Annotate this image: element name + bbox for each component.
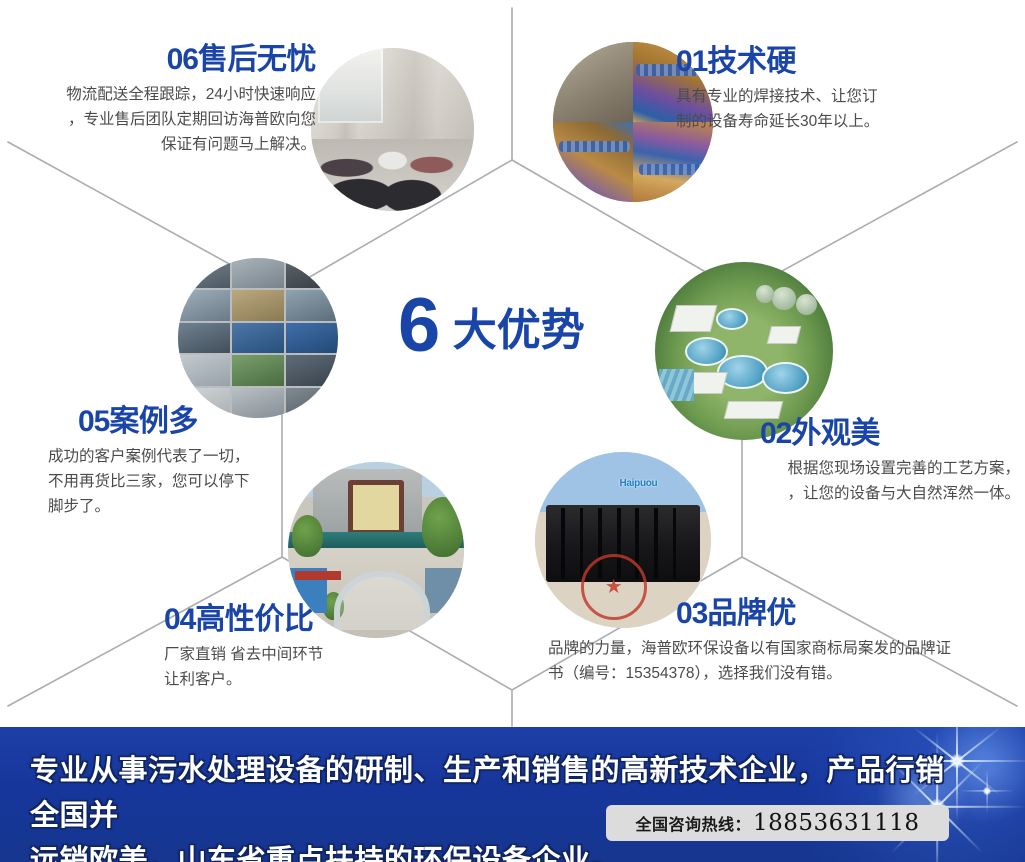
advantage-01-line2: 制的设备寿命延长30年以上。 <box>676 109 1006 134</box>
advantage-04-value: 04高性价比 厂家直销 省去中间环节 让利客户。 <box>128 604 418 692</box>
advantage-01-line1: 具有专业的焊接技术、让您订 <box>676 84 1006 109</box>
hotline-number: 18853631118 <box>753 810 919 836</box>
hotline-label: 全国咨询热线： <box>636 811 752 835</box>
advantage-04-line1: 厂家直销 省去中间环节 <box>164 642 418 667</box>
advantage-06-title: 06售后无忧 <box>16 44 316 76</box>
advantage-01-body: 具有专业的焊接技术、让您订 制的设备寿命延长30年以上。 <box>676 84 1006 134</box>
advantage-02-line1: 根据您现场设置完善的工艺方案， <box>700 456 1020 481</box>
advantage-06-service: 06售后无忧 物流配送全程跟踪，24小时快速响应 ，专业售后团队定期回访海普欧向… <box>16 44 316 157</box>
advantage-06-title-text: 售后无忧 <box>198 43 316 76</box>
advantage-02-title: 02外观美 <box>760 418 1020 450</box>
footer-banner: 专业从事污水处理设备的研制、生产和销售的高新技术企业，产品行销全国并 远销欧美，… <box>0 727 1025 862</box>
equipment-brand-logo: Haipuou <box>619 478 657 489</box>
advantage-01-title-text: 技术硬 <box>707 45 796 78</box>
advantage-03-body: 品牌的力量，海普欧环保设备以有国家商标局案发的品牌证 书（编号：15354378… <box>548 636 1018 686</box>
center-label: 大优势 <box>453 306 585 355</box>
advantage-02-number: 02 <box>760 417 791 450</box>
advantage-03-line1: 品牌的力量，海普欧环保设备以有国家商标局案发的品牌证 <box>548 636 1018 661</box>
advantage-02-appearance: 02外观美 根据您现场设置完善的工艺方案， ，让您的设备与大自然浑然一体。 <box>700 418 1020 506</box>
photo-service-office <box>311 48 474 211</box>
hotline-box[interactable]: 全国咨询热线： 18853631118 <box>606 805 949 841</box>
advantage-06-number: 06 <box>167 43 198 76</box>
advantage-04-title-text: 高性价比 <box>195 603 313 636</box>
lens-flare-2 <box>985 789 989 793</box>
advantage-06-body: 物流配送全程跟踪，24小时快速响应 ，专业售后团队定期回访海普欧向您 保证有问题… <box>16 82 316 157</box>
advantage-06-line1: 物流配送全程跟踪，24小时快速响应 <box>16 82 316 107</box>
advantage-03-line2: 书（编号：15354378），选择我们没有错。 <box>548 661 1018 686</box>
advantage-03-title-text: 品牌优 <box>707 597 796 630</box>
advantage-02-line2: ，让您的设备与大自然浑然一体。 <box>700 481 1020 506</box>
photo-cases-collage <box>178 258 338 418</box>
advantage-04-body: 厂家直销 省去中间环节 让利客户。 <box>164 642 418 692</box>
advantage-04-line2: 让利客户。 <box>164 667 418 692</box>
advantage-02-title-text: 外观美 <box>791 417 880 450</box>
advantage-01-number: 01 <box>676 45 707 78</box>
advantage-04-number: 04 <box>164 603 195 636</box>
advantage-02-body: 根据您现场设置完善的工艺方案， ，让您的设备与大自然浑然一体。 <box>700 456 1020 506</box>
center-number: 6 <box>398 283 440 368</box>
infographic-page: 06售后无忧 物流配送全程跟踪，24小时快速响应 ，专业售后团队定期回访海普欧向… <box>0 0 1025 862</box>
advantage-03-brand: 03品牌优 品牌的力量，海普欧环保设备以有国家商标局案发的品牌证 书（编号：15… <box>548 598 1018 686</box>
center-headline: 6 大优势 <box>398 288 628 364</box>
advantage-05-title-text: 案例多 <box>109 405 198 438</box>
photo-aerial-plant <box>655 262 833 440</box>
advantage-05-title: 05案例多 <box>78 406 338 438</box>
footer-slogan-line2: 远销欧美，山东省重点扶持的环保设备企业。 <box>30 839 620 862</box>
advantage-03-number: 03 <box>676 597 707 630</box>
advantage-05-number: 05 <box>78 405 109 438</box>
advantage-04-title: 04高性价比 <box>164 604 418 636</box>
advantage-06-line3: 保证有问题马上解决。 <box>16 132 316 157</box>
advantage-01-title: 01技术硬 <box>676 46 1006 78</box>
advantage-06-line2: ，专业售后团队定期回访海普欧向您 <box>16 107 316 132</box>
advantage-01-tech: 01技术硬 具有专业的焊接技术、让您订 制的设备寿命延长30年以上。 <box>676 46 1006 134</box>
advantage-03-title: 03品牌优 <box>676 598 1018 630</box>
